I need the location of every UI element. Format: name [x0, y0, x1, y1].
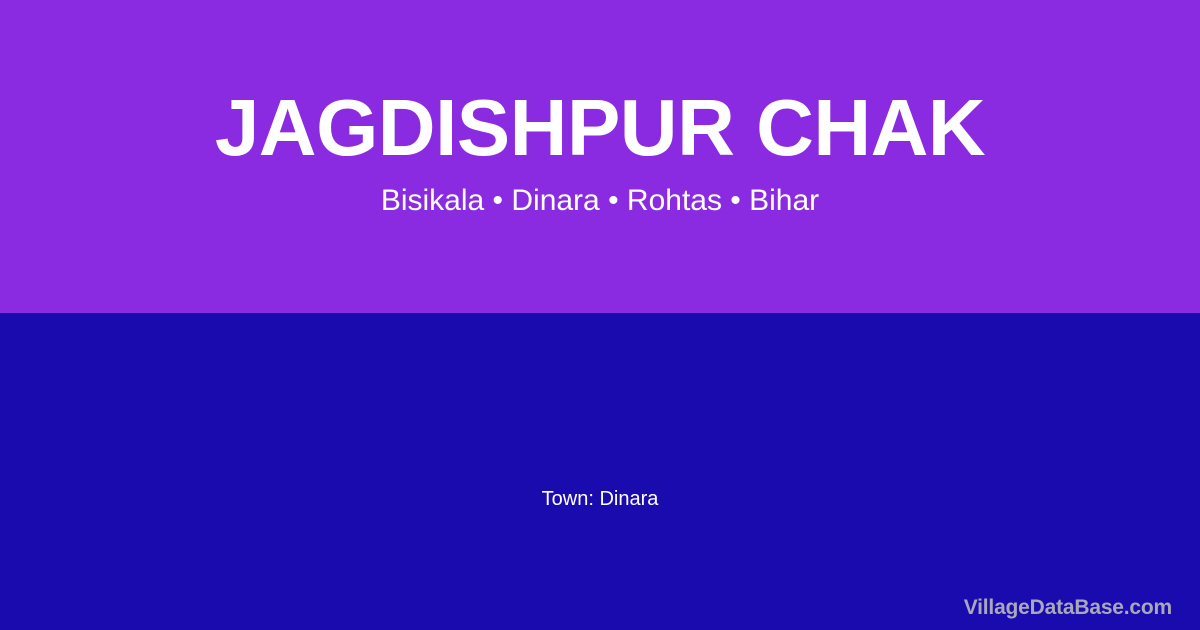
village-info-card: JAGDISHPUR CHAK Bisikala • Dinara • Roht… [0, 0, 1200, 630]
town-detail-text: Town: Dinara [0, 489, 1200, 509]
page-title: JAGDISHPUR CHAK [0, 88, 1200, 168]
body-band: Town: Dinara [0, 313, 1200, 630]
breadcrumb: Bisikala • Dinara • Rohtas • Bihar [0, 186, 1200, 216]
site-watermark: VillageDataBase.com [964, 597, 1172, 618]
header-band: JAGDISHPUR CHAK Bisikala • Dinara • Roht… [0, 0, 1200, 313]
